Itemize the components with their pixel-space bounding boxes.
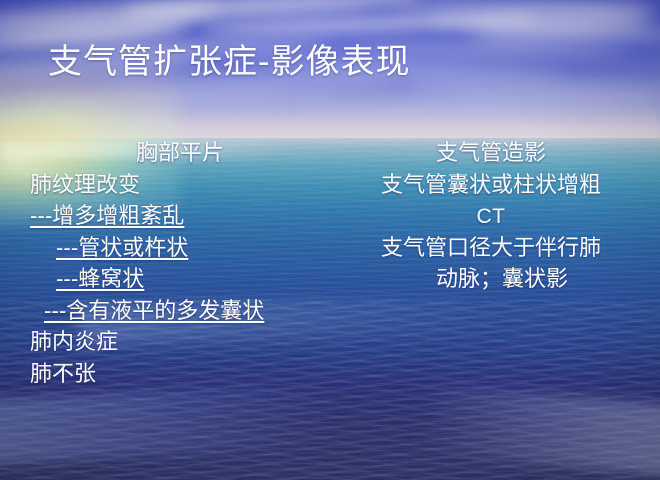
right-line-5: 动脉；囊状影 xyxy=(330,264,652,296)
right-line-1: 支气管造影 xyxy=(330,138,652,170)
left-line-8: 肺不张 xyxy=(30,359,330,391)
right-line-3-text: CT xyxy=(477,205,506,228)
left-line-4: ---管状或杵状 xyxy=(30,233,330,265)
right-line-4: 支气管口径大于伴行肺 xyxy=(330,233,652,265)
left-line-7-text: 肺内炎症 xyxy=(30,330,118,355)
left-line-1: 胸部平片 xyxy=(30,138,330,170)
left-line-2: 肺纹理改变 xyxy=(30,170,330,202)
left-line-4-text: ---管状或杵状 xyxy=(56,236,188,261)
left-text-block: 胸部平片 肺纹理改变 ---增多增粗紊乱 ---管状或杵状 ---蜂窝状 ---… xyxy=(30,138,330,390)
left-line-2-text: 肺纹理改变 xyxy=(30,173,140,198)
left-line-3: ---增多增粗紊乱 xyxy=(30,201,330,233)
left-line-8-text: 肺不张 xyxy=(30,362,96,387)
right-text-block: 支气管造影 支气管囊状或柱状增粗 CT 支气管口径大于伴行肺 动脉；囊状影 xyxy=(330,138,652,296)
right-line-2-text: 支气管囊状或柱状增粗 xyxy=(381,173,601,198)
right-line-2: 支气管囊状或柱状增粗 xyxy=(330,170,652,202)
right-line-3: CT xyxy=(330,201,652,233)
right-line-5-text: 动脉；囊状影 xyxy=(436,267,568,292)
left-line-1-text: 胸部平片 xyxy=(136,141,224,166)
left-line-7: 肺内炎症 xyxy=(30,327,330,359)
right-line-4-text: 支气管口径大于伴行肺 xyxy=(381,236,601,261)
left-line-5: ---蜂窝状 xyxy=(30,264,330,296)
slide-canvas: 支气管扩张症-影像表现 胸部平片 肺纹理改变 ---增多增粗紊乱 ---管状或杵… xyxy=(0,0,660,480)
left-line-3-text: ---增多增粗紊乱 xyxy=(30,204,184,229)
slide-title: 支气管扩张症-影像表现 xyxy=(48,42,628,82)
right-line-1-text: 支气管造影 xyxy=(436,141,546,166)
left-line-6: ---含有液平的多发囊状 xyxy=(30,296,330,328)
left-line-5-text: ---蜂窝状 xyxy=(56,267,144,292)
left-line-6-text: ---含有液平的多发囊状 xyxy=(44,299,264,324)
